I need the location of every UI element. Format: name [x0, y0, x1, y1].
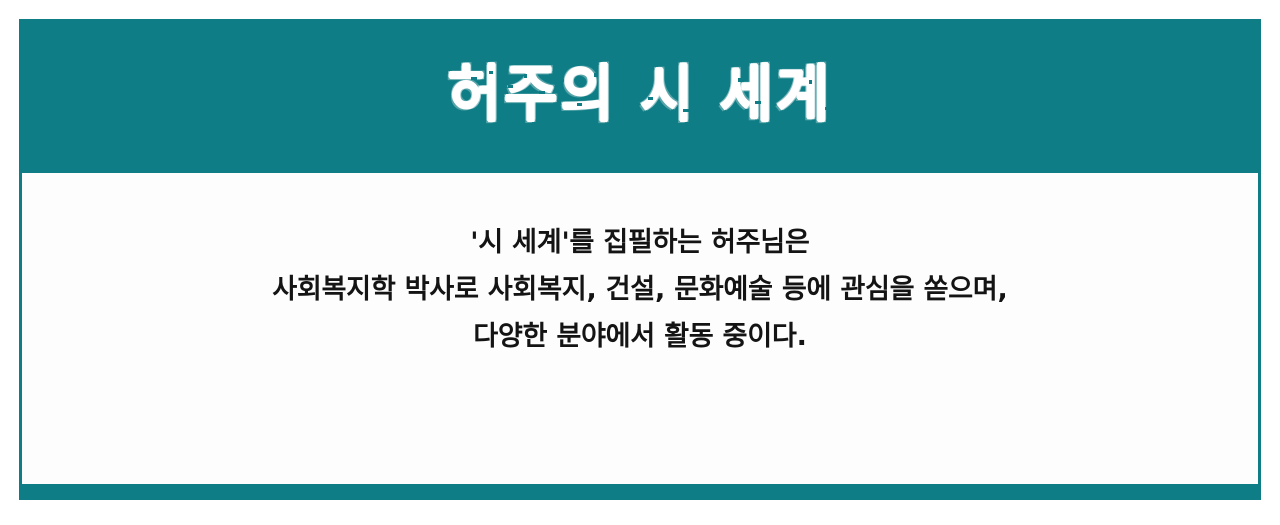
bio-text-block: '시 세계'를 집필하는 허주님은 사회복지학 박사로 사회복지, 건설, 문화…	[22, 173, 1258, 484]
header-banner: 허주의 시 세계	[19, 19, 1261, 173]
bio-line-3: 다양한 분야에서 활동 중이다.	[473, 313, 806, 360]
bio-line-1: '시 세계'를 집필하는 허주님은	[470, 219, 809, 266]
profile-card: 허주의 시 세계	[19, 19, 1261, 500]
bio-line-2: 사회복지학 박사로 사회복지, 건설, 문화예술 등에 관심을 쏟으며,	[272, 266, 1007, 313]
page-title: 허주의 시 세계	[448, 63, 833, 129]
